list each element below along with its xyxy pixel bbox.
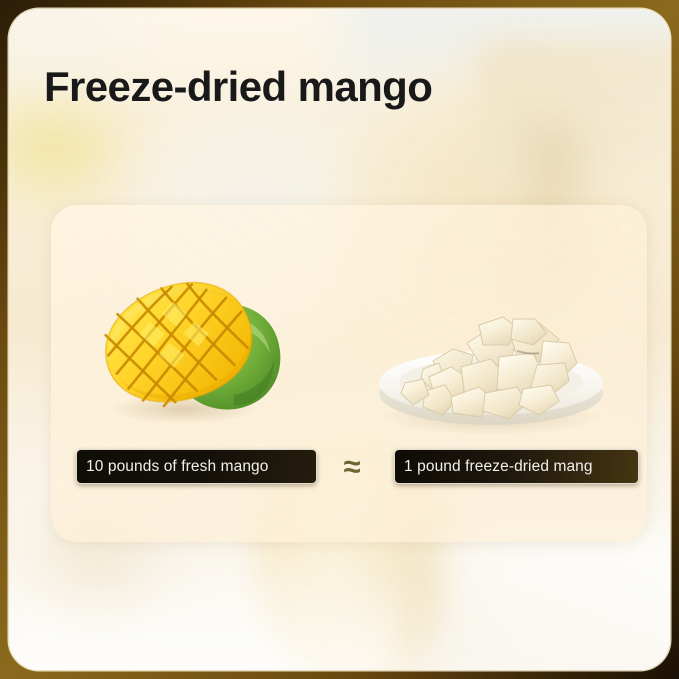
page-title: Freeze-dried mango bbox=[44, 65, 432, 109]
fresh-mango-photo bbox=[84, 267, 289, 432]
caption-freeze-dried-mango: 1 pound freeze-dried mang bbox=[394, 449, 639, 484]
photo-canvas: Freeze-dried mango bbox=[9, 9, 670, 670]
product-infographic: Freeze-dried mango bbox=[0, 0, 679, 679]
freeze-dried-mango-photo bbox=[367, 265, 617, 440]
approximately-equal-icon: ≈ bbox=[331, 446, 373, 486]
caption-left-text: 10 pounds of fresh mango bbox=[86, 458, 269, 476]
caption-right-text: 1 pound freeze-dried mang bbox=[404, 458, 593, 476]
caption-fresh-mango: 10 pounds of fresh mango bbox=[76, 449, 317, 484]
